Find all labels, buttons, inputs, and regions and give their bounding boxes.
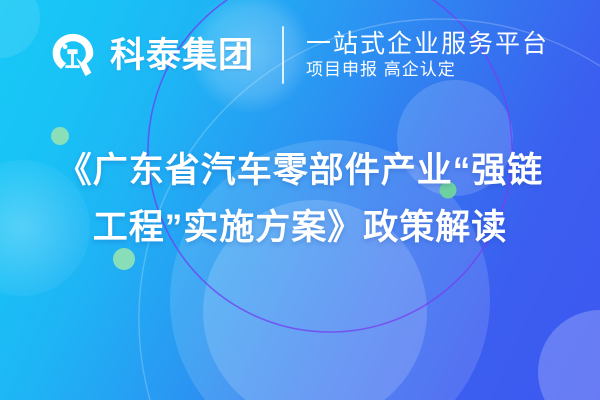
title-line-2: 工程”实施方案》政策解读 xyxy=(22,199,578,256)
tagline-main: 一站式企业服务平台 xyxy=(306,31,549,57)
title-line-1: 《广东省汽车零部件产业“强链 xyxy=(22,142,578,199)
banner-header: 科泰集团 一站式企业服务平台 项目申报 高企认定 xyxy=(0,0,600,110)
brand-block[interactable]: 科泰集团 xyxy=(48,30,254,80)
tagline-block: 一站式企业服务平台 项目申报 高企认定 xyxy=(306,31,549,79)
policy-banner: 科泰集团 一站式企业服务平台 项目申报 高企认定 《广东省汽车零部件产业“强链 … xyxy=(0,0,600,400)
header-divider xyxy=(282,26,284,84)
brand-name: 科泰集团 xyxy=(110,38,254,73)
tagline-sub: 项目申报 高企认定 xyxy=(306,61,549,79)
page-title: 《广东省汽车零部件产业“强链 工程”实施方案》政策解读 xyxy=(0,142,600,256)
deco-soft-circle-bottom-right xyxy=(538,310,600,400)
ketai-circle-logo-icon xyxy=(48,30,98,80)
